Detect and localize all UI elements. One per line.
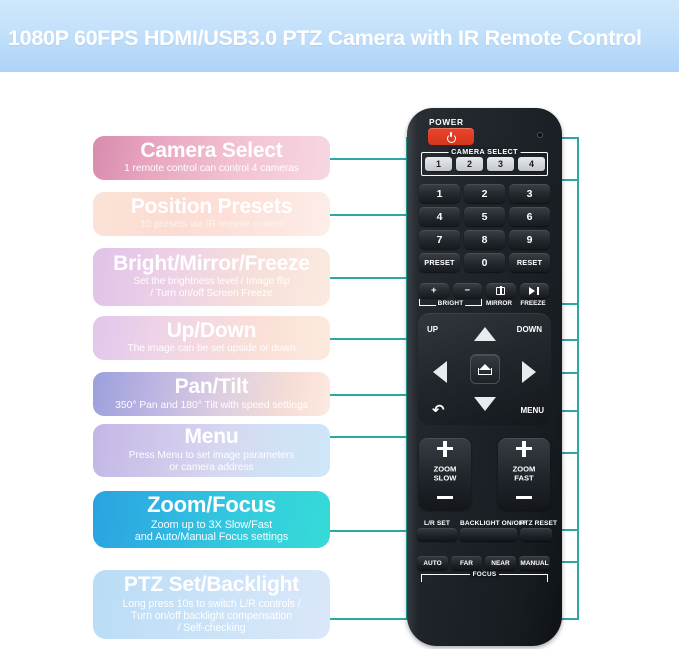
key-0[interactable]: 0 bbox=[464, 253, 505, 272]
connector-line-zoom-focus bbox=[330, 530, 408, 532]
key-9[interactable]: 9 bbox=[509, 230, 550, 249]
backlight-button[interactable] bbox=[460, 528, 517, 541]
zoom-fast-rocker[interactable]: ZOOM FAST bbox=[498, 438, 550, 510]
key-preset[interactable]: PRESET bbox=[419, 253, 460, 272]
page-title: 1080P 60FPS HDMI/USB3.0 PTZ Camera with … bbox=[8, 28, 673, 50]
zoom-fast-plus-icon[interactable] bbox=[516, 447, 532, 450]
lr-set-label: L/R SET bbox=[417, 520, 457, 527]
bright-up-button[interactable]: + bbox=[419, 283, 449, 298]
ir-remote-control: POWER CAMERA SELECT 1 2 3 4 1 2 3 4 5 6 … bbox=[407, 108, 562, 646]
power-label: POWER bbox=[429, 117, 464, 127]
key-2[interactable]: 2 bbox=[464, 184, 505, 203]
menu-label[interactable]: MENU bbox=[520, 406, 544, 415]
connector-line-up-down bbox=[330, 338, 408, 340]
power-button[interactable] bbox=[428, 128, 474, 145]
ptz-reset-item: PTZ RESET bbox=[520, 520, 552, 541]
callout-subtitle: 1 remote control can control 4 cameras bbox=[124, 163, 299, 175]
callout-ptz-set-backlight[interactable]: PTZ Set/Backlight Long press 10s to swit… bbox=[93, 570, 330, 639]
bright-bracket: BRIGHT bbox=[419, 299, 482, 306]
camera-select-group: CAMERA SELECT 1 2 3 4 bbox=[421, 152, 548, 176]
zoom-slow-minus-icon[interactable] bbox=[437, 496, 453, 499]
mirror-button[interactable] bbox=[486, 283, 516, 298]
arrow-down-icon[interactable] bbox=[474, 397, 496, 411]
callout-title: Up/Down bbox=[167, 320, 257, 342]
ptz-reset-label: PTZ RESET bbox=[520, 520, 552, 527]
callout-title: Pan/Tilt bbox=[175, 376, 249, 398]
connector-line-position-presets bbox=[330, 214, 408, 216]
connector-line-camera-select bbox=[330, 158, 408, 160]
arrow-left-icon[interactable] bbox=[433, 361, 447, 383]
infographic-root: 1080P 60FPS HDMI/USB3.0 PTZ Camera with … bbox=[0, 0, 679, 649]
focus-label: FOCUS bbox=[470, 571, 500, 578]
home-button[interactable] bbox=[470, 354, 500, 384]
callout-camera-select[interactable]: Camera Select 1 remote control can contr… bbox=[93, 136, 330, 180]
backlight-item: BACKLIGHT ON/OFF bbox=[460, 520, 517, 541]
key-6[interactable]: 6 bbox=[509, 207, 550, 226]
back-icon[interactable]: ↶ bbox=[432, 404, 445, 417]
focus-far-button[interactable]: FAR bbox=[451, 556, 482, 570]
callout-title: Camera Select bbox=[140, 140, 282, 162]
lr-set-button[interactable] bbox=[417, 528, 457, 541]
camera-select-buttons: 1 2 3 4 bbox=[425, 157, 545, 171]
bright-label: BRIGHT bbox=[436, 300, 466, 307]
freeze-label: FREEZE bbox=[518, 300, 548, 307]
callout-subtitle: Set the brightness level / Image flip / … bbox=[133, 276, 290, 300]
header-banner: 1080P 60FPS HDMI/USB3.0 PTZ Camera with … bbox=[0, 0, 679, 72]
connector-line-pan-tilt bbox=[330, 394, 408, 396]
callout-subtitle: The image can be set upside or down bbox=[127, 343, 295, 355]
callout-title: PTZ Set/Backlight bbox=[124, 574, 299, 596]
zoom-slow-rocker[interactable]: ZOOM SLOW bbox=[419, 438, 471, 510]
key-8[interactable]: 8 bbox=[464, 230, 505, 249]
callout-title: Bright/Mirror/Freeze bbox=[113, 253, 310, 275]
focus-button-row: AUTO FAR NEAR MANUAL bbox=[417, 556, 552, 570]
navigation-pad: UP DOWN ↶ MENU bbox=[418, 313, 551, 425]
ptz-reset-button[interactable] bbox=[520, 528, 552, 541]
callout-menu[interactable]: Menu Press Menu to set image parameters … bbox=[93, 424, 330, 477]
key-4[interactable]: 4 bbox=[419, 207, 460, 226]
camera-select-button-2[interactable]: 2 bbox=[456, 157, 483, 171]
key-reset[interactable]: RESET bbox=[509, 253, 550, 272]
zoom-slow-plus-icon[interactable] bbox=[437, 447, 453, 450]
callout-zoom-focus[interactable]: Zoom/Focus Zoom up to 3X Slow/Fast and A… bbox=[93, 491, 330, 548]
connector-line-bright bbox=[330, 277, 408, 279]
arrow-right-icon[interactable] bbox=[522, 361, 536, 383]
bright-mirror-freeze-row: + − bbox=[419, 283, 550, 298]
key-7[interactable]: 7 bbox=[419, 230, 460, 249]
camera-select-button-1[interactable]: 1 bbox=[425, 157, 452, 171]
numeric-keypad: 1 2 3 4 5 6 7 8 9 PRESET 0 RESET bbox=[419, 184, 550, 272]
callout-title: Position Presets bbox=[131, 196, 292, 218]
power-icon bbox=[447, 132, 456, 141]
arrow-up-icon[interactable] bbox=[474, 327, 496, 341]
zoom-fast-minus-icon[interactable] bbox=[516, 496, 532, 499]
callout-subtitle: Press Menu to set image parameters or ca… bbox=[129, 450, 294, 474]
zoom-rockers: ZOOM SLOW ZOOM FAST bbox=[419, 438, 550, 510]
callout-bright-mirror-freeze[interactable]: Bright/Mirror/Freeze Set the brightness … bbox=[93, 248, 330, 306]
callout-subtitle: Long press 10s to switch L/R controls / … bbox=[122, 598, 300, 635]
camera-select-button-4[interactable]: 4 bbox=[518, 157, 545, 171]
mirror-label: MIRROR bbox=[484, 300, 514, 307]
focus-manual-button[interactable]: MANUAL bbox=[519, 556, 550, 570]
backlight-label: BACKLIGHT ON/OFF bbox=[460, 520, 517, 527]
zoom-slow-label: ZOOM SLOW bbox=[419, 466, 471, 483]
lr-set-item: L/R SET bbox=[417, 520, 457, 541]
zoom-fast-label: ZOOM FAST bbox=[498, 466, 550, 483]
camera-select-button-3[interactable]: 3 bbox=[487, 157, 514, 171]
callout-subtitle: 350° Pan and 180° Tilt with speed settin… bbox=[115, 399, 308, 411]
key-5[interactable]: 5 bbox=[464, 207, 505, 226]
ir-led-indicator bbox=[537, 132, 543, 138]
connector-line-ptz-backlight bbox=[330, 618, 408, 620]
focus-bracket: FOCUS bbox=[421, 574, 548, 582]
focus-auto-button[interactable]: AUTO bbox=[417, 556, 448, 570]
callout-title: Menu bbox=[184, 426, 238, 448]
up-label: UP bbox=[427, 325, 438, 334]
connector-line-menu bbox=[330, 436, 408, 438]
callout-pan-tilt[interactable]: Pan/Tilt 350° Pan and 180° Tilt with spe… bbox=[93, 372, 330, 416]
callout-subtitle: 10 presets via IR remote control bbox=[140, 219, 283, 231]
key-1[interactable]: 1 bbox=[419, 184, 460, 203]
callout-subtitle: Zoom up to 3X Slow/Fast and Auto/Manual … bbox=[135, 519, 289, 545]
home-icon bbox=[478, 364, 492, 375]
callout-title: Zoom/Focus bbox=[147, 494, 276, 517]
focus-near-button[interactable]: NEAR bbox=[485, 556, 516, 570]
camera-select-legend: CAMERA SELECT bbox=[448, 147, 521, 156]
freeze-button[interactable] bbox=[520, 283, 550, 298]
bright-down-button[interactable]: − bbox=[453, 283, 483, 298]
key-3[interactable]: 3 bbox=[509, 184, 550, 203]
down-label: DOWN bbox=[517, 325, 542, 334]
mirror-icon bbox=[496, 287, 505, 295]
callout-up-down[interactable]: Up/Down The image can be set upside or d… bbox=[93, 316, 330, 360]
connector-outer-right bbox=[577, 137, 579, 619]
callout-position-presets[interactable]: Position Presets 10 presets via IR remot… bbox=[93, 192, 330, 236]
freeze-icon bbox=[529, 287, 539, 295]
